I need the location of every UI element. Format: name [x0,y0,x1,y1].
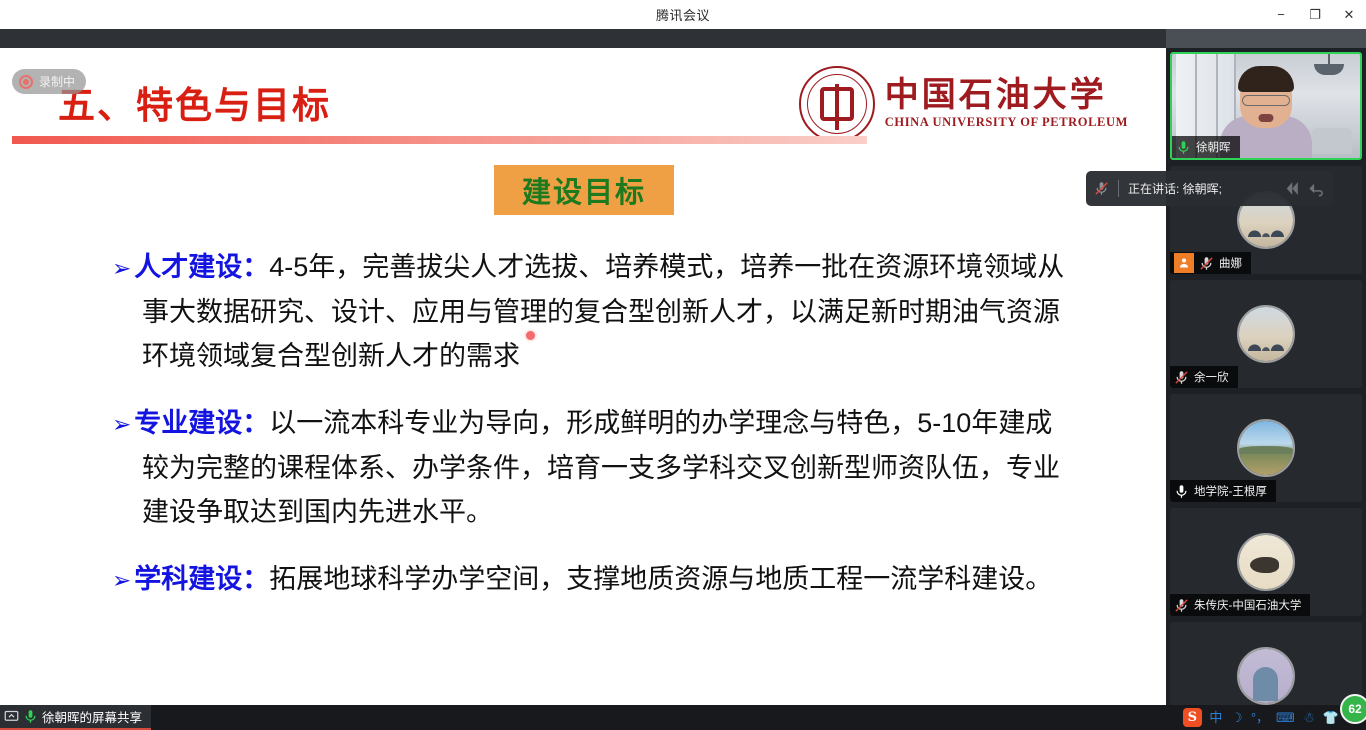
shirt-icon[interactable]: 👕 [1323,711,1339,724]
university-seal-icon [799,66,875,142]
host-icon [1174,253,1194,273]
maximize-icon[interactable]: ❐ [1298,0,1332,29]
bullet-text: 4-5年，完善拔尖人才选拔、培养模式，培养一批在资源环境领域从事大数据研究、设计… [142,252,1064,371]
mic-off-icon [1174,598,1189,613]
recording-label: 录制中 [39,73,75,90]
participant-label: 地学院-王根厚 [1170,480,1276,502]
mic-on-icon [23,709,38,724]
logo-chinese-name: 中国石油大学 [885,78,1128,114]
sogou-ime-icon[interactable]: S [1183,708,1202,727]
speaking-toast: 正在讲话: 徐朝晖; [1086,171,1334,206]
mic-on-icon [1176,140,1191,155]
app-root: 腾讯会议 − ❐ ✕ 录制中 五、特色与目标 中国石油大学 CHINA UNIV… [0,0,1366,730]
goal-heading-label: 建设目标 [522,169,646,211]
toast-actions [1282,179,1326,198]
taskbar: 徐朝晖的屏幕共享 S 中 ☽ °， ⌨ ☃ 👕 ⚒ 62 [0,705,1366,730]
avatar [1237,305,1295,363]
avatar [1237,647,1295,705]
speaking-label: 正在讲话: 徐朝晖; [1128,180,1222,197]
taskbar-screenshare-label: 徐朝晖的屏幕共享 [42,707,142,726]
participant-name: 地学院-王根厚 [1194,483,1267,499]
return-icon[interactable] [1307,179,1326,198]
slide-bullet-list: ➢人才建设：4-5年，完善拔尖人才选拔、培养模式，培养一批在资源环境领域从事大数… [112,245,1072,625]
moon-icon[interactable]: ☽ [1230,711,1244,724]
minimize-icon[interactable]: − [1264,0,1298,29]
laser-pointer-cursor [526,331,535,340]
participant-label: 余一欣 [1170,366,1238,388]
mic-off-icon [1199,256,1214,271]
participant-label: 徐朝晖 [1172,136,1240,158]
avatar [1237,533,1295,591]
slide-title: 五、特色与目标 [58,75,331,129]
collapse-icon[interactable] [1282,179,1301,198]
participant-label: 曲娜 [1170,252,1251,274]
meeting-topbar [0,29,1366,48]
window-controls: − ❐ ✕ [1264,0,1366,29]
participant-label: 朱传庆-中国石油大学 [1170,594,1310,616]
goal-heading-box: 建设目标 [494,165,674,215]
participant-tile[interactable]: 徐朝晖 [1170,52,1362,160]
toast-divider [1118,180,1119,197]
logo-english-name: CHINA UNIVERSITY OF PETROLEUM [885,115,1128,130]
bullet-arrow-icon: ➢ [112,567,134,593]
participant-name: 徐朝晖 [1196,139,1231,155]
bullet-arrow-icon: ➢ [112,255,134,281]
taskbar-screenshare-item[interactable]: 徐朝晖的屏幕共享 [0,705,151,730]
participant-name: 余一欣 [1194,369,1229,385]
screen-share-icon [4,709,19,724]
ime-mode-icon[interactable]: 中 [1209,711,1223,724]
bullet-text: 以一流本科专业为导向，形成鲜明的办学理念与特色，5-10年建成较为完整的课程体系… [142,408,1060,527]
participant-name: 曲娜 [1219,255,1242,271]
participant-name: 朱传庆-中国石油大学 [1194,597,1301,613]
meeting-topbar-rail [1166,29,1366,48]
participant-rail: 徐朝晖 曲娜 [1166,48,1366,705]
notification-badge[interactable]: 62 [1340,694,1366,724]
bullet-arrow-icon: ➢ [112,411,134,437]
shared-screen-slide: 录制中 五、特色与目标 中国石油大学 CHINA UNIVERSITY OF P… [0,48,1166,705]
participant-tile[interactable]: 地学院-王根厚 [1170,394,1362,502]
system-tray: S 中 ☽ °， ⌨ ☃ 👕 ⚒ 62 [1183,705,1366,730]
bullet-head: 人才建设： [134,252,269,282]
mic-off-icon [1094,181,1109,196]
bullet-text: 拓展地球科学办学空间，支撑地质资源与地质工程一流学科建设。 [269,564,1052,594]
participant-tile[interactable]: 余一欣 [1170,280,1362,388]
mic-on-icon [1174,484,1189,499]
university-logo: 中国石油大学 CHINA UNIVERSITY OF PETROLEUM [799,66,1128,142]
bullet-item: ➢专业建设：以一流本科专业为导向，形成鲜明的办学理念与特色，5-10年建成较为完… [112,401,1072,534]
participant-tile[interactable]: 朱传庆-中国石油大学 [1170,508,1362,616]
user-icon[interactable]: ☃ [1302,711,1316,724]
mic-off-icon [1174,370,1189,385]
bullet-head: 学科建设： [134,564,269,594]
punctuation-icon[interactable]: °， [1251,711,1269,724]
bullet-item: ➢学科建设：拓展地球科学办学空间，支撑地质资源与地质工程一流学科建设。 [112,557,1072,602]
bullet-head: 专业建设： [134,408,269,438]
avatar [1237,419,1295,477]
close-icon[interactable]: ✕ [1332,0,1366,29]
title-divider [12,136,867,144]
bullet-item: ➢人才建设：4-5年，完善拔尖人才选拔、培养模式，培养一批在资源环境领域从事大数… [112,245,1072,378]
window-titlebar: 腾讯会议 − ❐ ✕ [0,0,1366,29]
keyboard-icon[interactable]: ⌨ [1276,711,1295,724]
recording-badge: 录制中 [12,69,86,94]
record-icon [19,75,33,89]
window-title: 腾讯会议 [656,5,710,24]
